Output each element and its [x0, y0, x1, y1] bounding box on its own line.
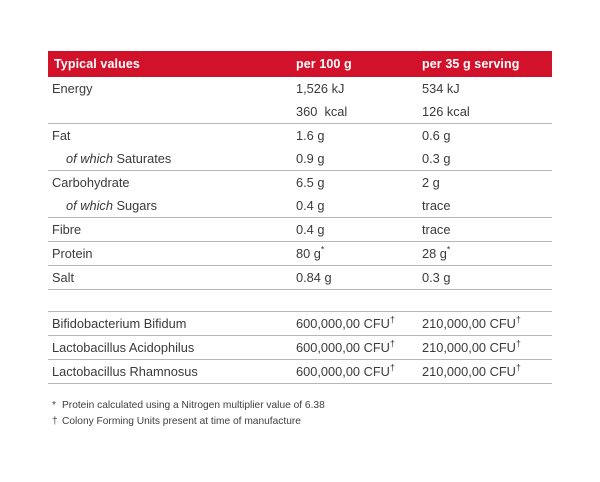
- footnote-list: *Protein calculated using a Nitrogen mul…: [52, 398, 552, 430]
- footnote-marker: *: [52, 398, 62, 414]
- footnote-marker: †: [390, 315, 395, 325]
- table-header-row: Typical values per 100 g per 35 g servin…: [48, 51, 552, 77]
- row-divider-rule: [48, 383, 552, 384]
- value-per-serving: 0.3 g: [422, 270, 552, 285]
- footnote: *Protein calculated using a Nitrogen mul…: [52, 398, 552, 414]
- footnote-marker: †: [516, 363, 521, 373]
- row-label: Salt: [48, 270, 296, 285]
- footnote-marker: †: [516, 339, 521, 349]
- value-per-100g: 0.9 g: [296, 151, 422, 166]
- value-per-100g: 600,000,00 CFU†: [296, 364, 422, 379]
- value-per-100g: 0.4 g: [296, 198, 422, 213]
- footnote-marker: *: [321, 245, 325, 255]
- row-label-qualifier: of which: [66, 151, 117, 166]
- row-label: Energy: [48, 81, 296, 96]
- footnote-text: Colony Forming Units present at time of …: [62, 416, 301, 427]
- value-per-serving: 0.3 g: [422, 151, 552, 166]
- footnote-marker: *: [447, 245, 451, 255]
- value-per-100g: 0.84 g: [296, 270, 422, 285]
- table-row: of which Saturates0.9 g0.3 g: [48, 147, 552, 170]
- table-row: Fibre0.4 gtrace: [48, 218, 552, 241]
- table-row-group: Fibre0.4 gtrace: [48, 218, 552, 242]
- table-row-group: Carbohydrate6.5 g2 gof which Sugars0.4 g…: [48, 171, 552, 218]
- table-row: Lactobacillus Acidophilus600,000,00 CFU†…: [48, 336, 552, 359]
- value-per-100g: 600,000,00 CFU†: [296, 316, 422, 331]
- value-per-100g: 1,526 kJ: [296, 81, 422, 96]
- value-per-100g: 600,000,00 CFU†: [296, 340, 422, 355]
- row-label: Fibre: [48, 222, 296, 237]
- value-per-100g: 80 g*: [296, 246, 422, 261]
- row-label: of which Saturates: [48, 151, 296, 166]
- table-row: Carbohydrate6.5 g2 g: [48, 171, 552, 194]
- value-per-serving: 126 kcal: [422, 104, 552, 119]
- table-row: Bifidobacterium Bifidum600,000,00 CFU†21…: [48, 312, 552, 335]
- nutrition-information-table: Typical values per 100 g per 35 g servin…: [48, 51, 552, 384]
- footnote-marker: †: [516, 315, 521, 325]
- row-label: Lactobacillus Acidophilus: [48, 340, 296, 355]
- row-label: Lactobacillus Rhamnosus: [48, 364, 296, 379]
- value-per-serving: 2 g: [422, 175, 552, 190]
- footnote-text: Protein calculated using a Nitrogen mult…: [62, 400, 325, 411]
- column-header-typical-values: Typical values: [48, 57, 296, 71]
- footnote: †Colony Forming Units present at time of…: [52, 414, 552, 430]
- value-per-serving: 210,000,00 CFU†: [422, 316, 552, 331]
- value-per-serving: trace: [422, 198, 552, 213]
- table-row-group: Protein80 g*28 g*: [48, 242, 552, 266]
- table-body: Energy1,526 kJ534 kJ360 kcal126 kcalFat1…: [48, 77, 552, 290]
- table-row: of which Sugars0.4 gtrace: [48, 194, 552, 217]
- footnote-marker: †: [390, 363, 395, 373]
- value-per-serving: trace: [422, 222, 552, 237]
- value-per-100g: 360 kcal: [296, 104, 422, 119]
- footnote-marker: †: [52, 414, 62, 430]
- section-spacer: [48, 290, 552, 311]
- value-per-100g: 6.5 g: [296, 175, 422, 190]
- table-row: Lactobacillus Rhamnosus600,000,00 CFU†21…: [48, 360, 552, 383]
- value-per-serving: 28 g*: [422, 246, 552, 261]
- table-row: Energy1,526 kJ534 kJ: [48, 77, 552, 100]
- row-label: Fat: [48, 128, 296, 143]
- table-row: Protein80 g*28 g*: [48, 242, 552, 265]
- table-row-group: Salt0.84 g0.3 g: [48, 266, 552, 290]
- live-cultures-section: Bifidobacterium Bifidum600,000,00 CFU†21…: [48, 312, 552, 384]
- value-per-100g: 0.4 g: [296, 222, 422, 237]
- value-per-serving: 0.6 g: [422, 128, 552, 143]
- footnote-marker: †: [390, 339, 395, 349]
- row-label-qualifier: of which: [66, 198, 117, 213]
- value-per-100g: 1.6 g: [296, 128, 422, 143]
- table-row-group: Fat1.6 g0.6 gof which Saturates0.9 g0.3 …: [48, 124, 552, 171]
- table-row: 360 kcal126 kcal: [48, 100, 552, 123]
- row-label: Bifidobacterium Bifidum: [48, 316, 296, 331]
- table-row: Fat1.6 g0.6 g: [48, 124, 552, 147]
- value-per-serving: 210,000,00 CFU†: [422, 364, 552, 379]
- table-row: Salt0.84 g0.3 g: [48, 266, 552, 289]
- row-label: Protein: [48, 246, 296, 261]
- column-header-per-100g: per 100 g: [296, 57, 422, 71]
- row-label: Carbohydrate: [48, 175, 296, 190]
- table-row-group: Energy1,526 kJ534 kJ360 kcal126 kcal: [48, 77, 552, 124]
- row-label: of which Sugars: [48, 198, 296, 213]
- column-header-per-serving: per 35 g serving: [422, 57, 552, 71]
- value-per-serving: 210,000,00 CFU†: [422, 340, 552, 355]
- value-per-serving: 534 kJ: [422, 81, 552, 96]
